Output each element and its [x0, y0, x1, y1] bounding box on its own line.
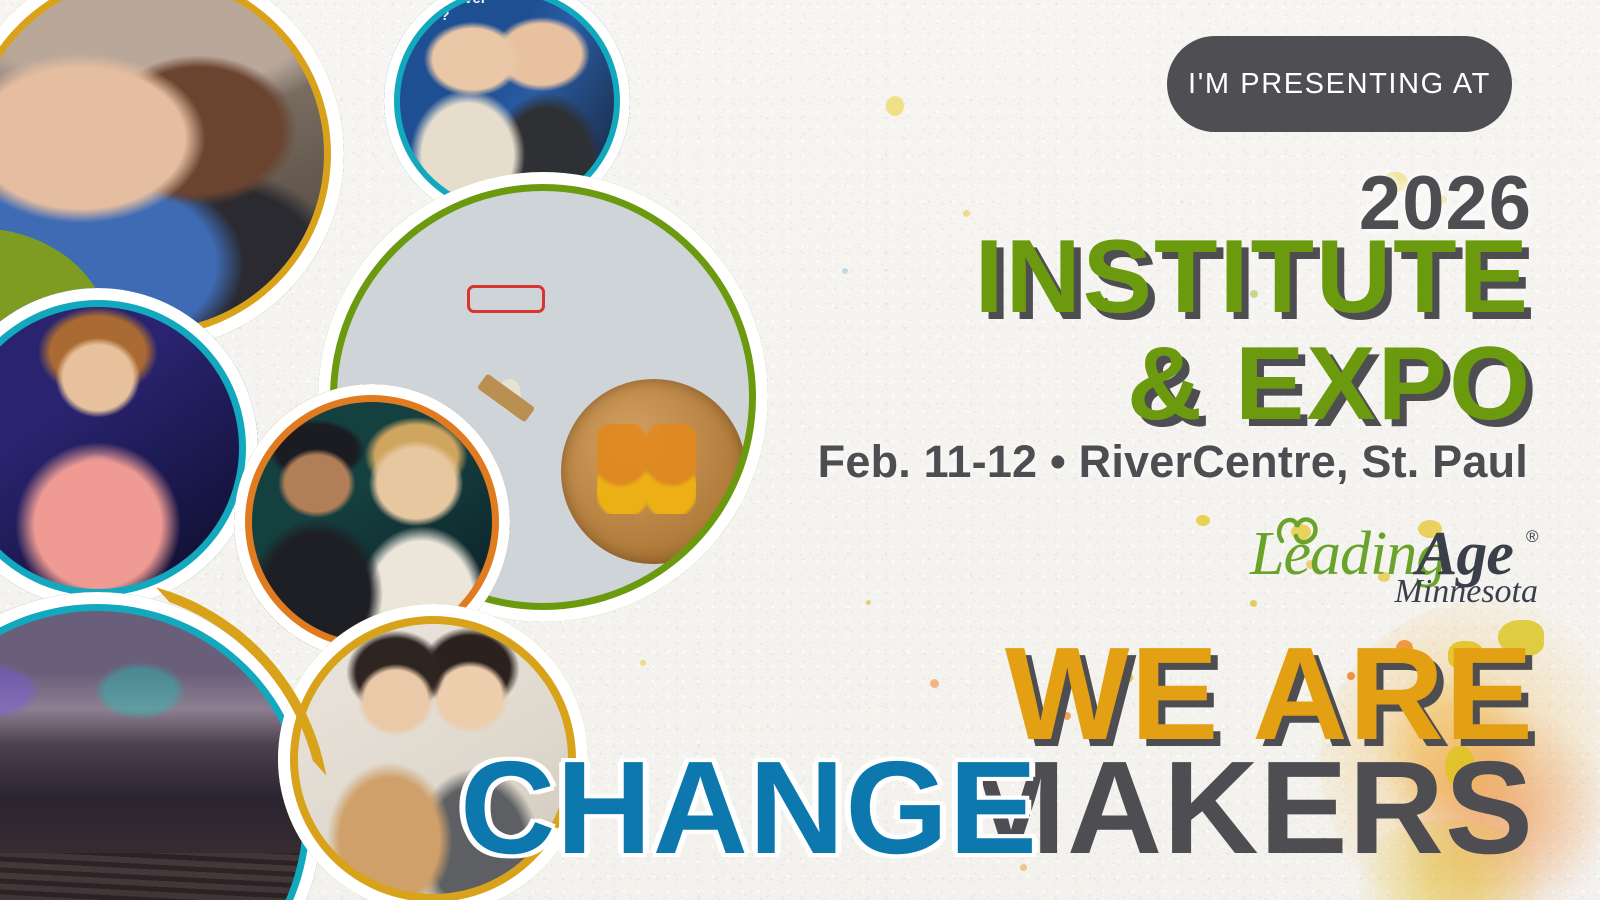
tagline-change: CHANGE: [460, 742, 1038, 874]
leadingage-minnesota-logo: Leading Age ® Minnesota: [1238, 505, 1538, 613]
red-eyeglasses: [467, 285, 545, 314]
ballroom-audience-image: [0, 592, 322, 900]
tagline-makers: MAKERS: [956, 742, 1534, 874]
ballroom-seating-rows: [0, 853, 322, 900]
event-title-line-1: INSTITUTE: [975, 218, 1530, 337]
photo-circle-ballroom-audience: [0, 592, 322, 900]
poster-canvas: can we deliver for YOU?: [0, 0, 1600, 900]
presenting-badge-label: I'M PRESENTING AT: [1188, 68, 1491, 101]
photo-circle-pink-blazer-speaker: [0, 288, 258, 608]
presenting-badge: I'M PRESENTING AT: [1167, 36, 1512, 132]
event-title-line-2: & EXPO: [1127, 325, 1532, 444]
logo-registered-mark: ®: [1526, 527, 1539, 547]
logo-state-text: Minnesota: [1394, 573, 1538, 611]
butterfly-motif: [597, 424, 696, 514]
pink-blazer-speaker-image: [0, 288, 258, 608]
event-dateline: Feb. 11-12 • RiverCentre, St. Paul: [818, 436, 1528, 488]
